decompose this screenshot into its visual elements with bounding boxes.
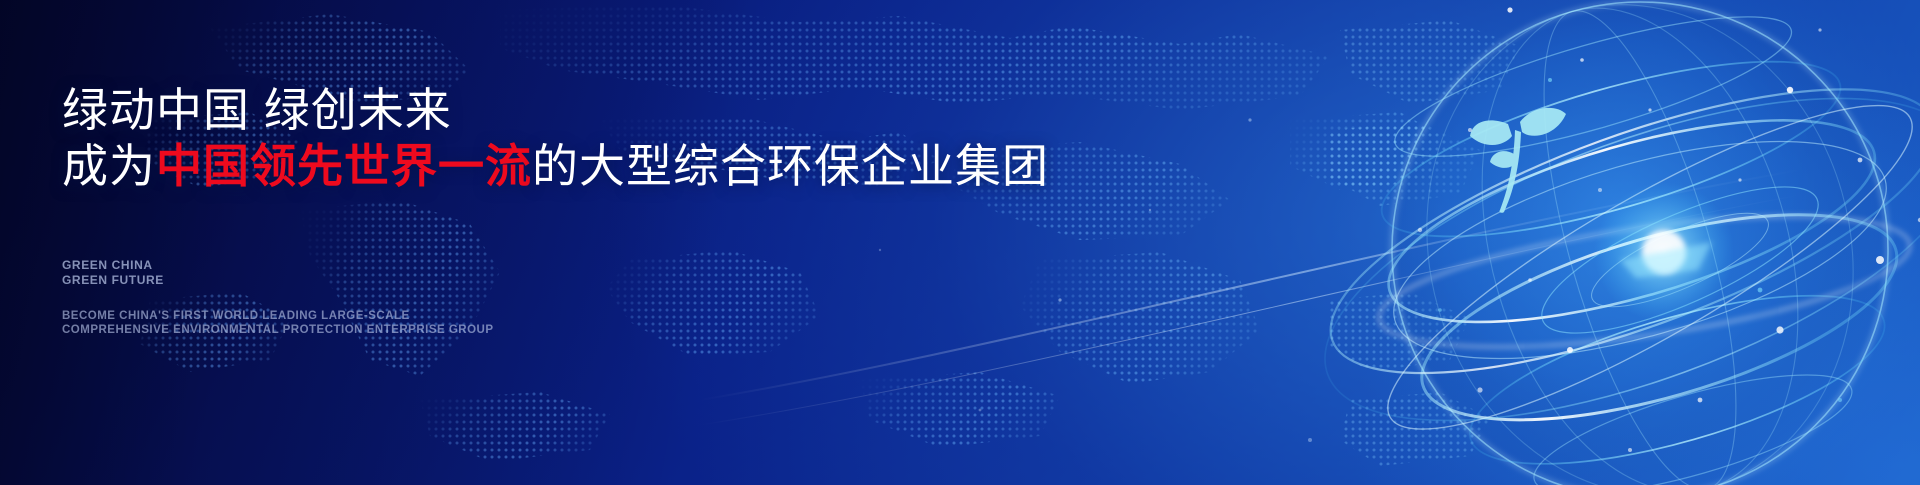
headline-line-1: 绿动中国 绿创未来 [62, 82, 1049, 138]
headline-line-2-prefix: 成为 [62, 140, 156, 192]
headline-line-2: 成为中国领先世界一流的大型综合环保企业集团 [62, 138, 1049, 194]
description-line-1: BECOME CHINA'S FIRST WORLD LEADING LARGE… [62, 309, 494, 323]
globe-wireframe-graphic [1320, 0, 1920, 485]
tagline-line-2: GREEN FUTURE [62, 273, 164, 288]
description-line-2: COMPREHENSIVE ENVIRONMENTAL PROTECTION E… [62, 323, 494, 337]
tagline-block: GREEN CHINA GREEN FUTURE [62, 258, 164, 288]
headline-line-2-suffix: 的大型综合环保企业集团 [532, 140, 1049, 192]
hero-banner: 绿动中国 绿创未来 成为中国领先世界一流的大型综合环保企业集团 GREEN CH… [0, 0, 1920, 485]
description-block: BECOME CHINA'S FIRST WORLD LEADING LARGE… [62, 309, 494, 337]
dotted-world-map-texture [0, 0, 1460, 485]
headline-line-2-emphasis: 中国领先世界一流 [156, 140, 532, 192]
headline-block: 绿动中国 绿创未来 成为中国领先世界一流的大型综合环保企业集团 [62, 82, 1049, 194]
tagline-line-1: GREEN CHINA [62, 258, 164, 273]
